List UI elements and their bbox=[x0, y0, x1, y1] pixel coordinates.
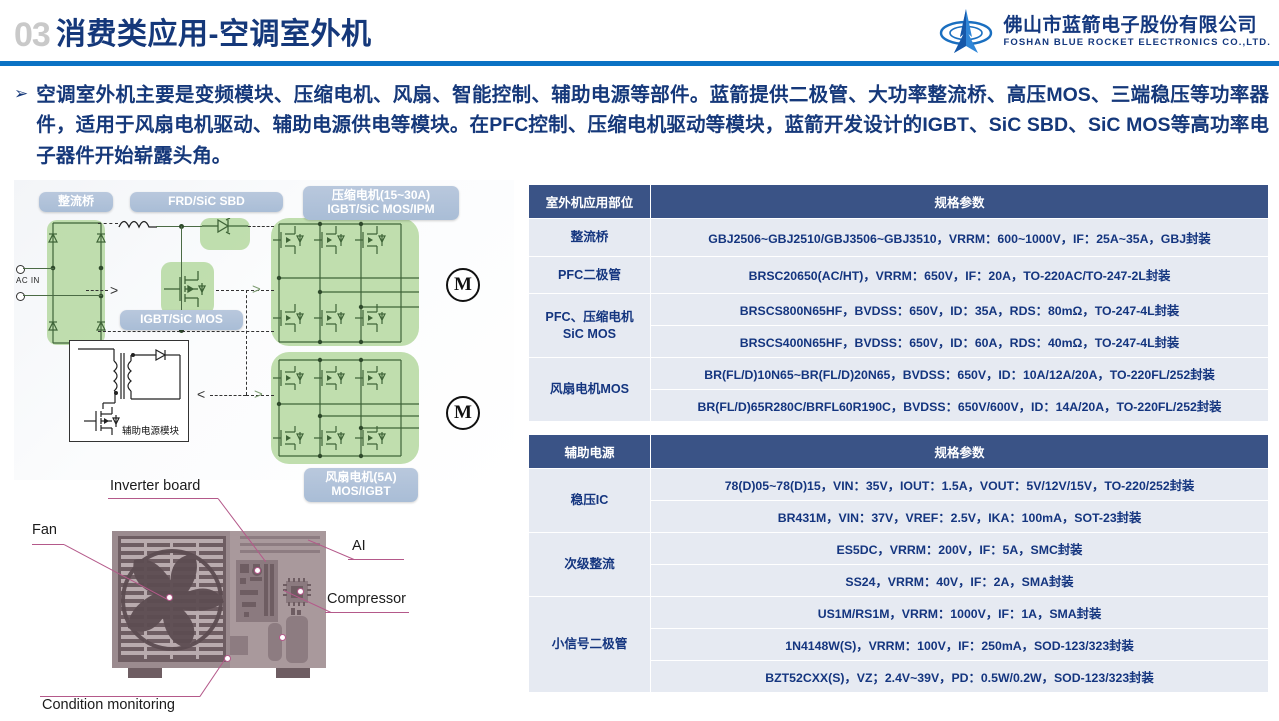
table2-category-small-signal-diode: 小信号二极管 bbox=[529, 597, 651, 693]
table2-spec-secondary-rectifier-2: SS24，VRRM：40V，IF：2A，SMA封装 bbox=[651, 565, 1269, 597]
table1-spec-pfc-sic-mos-2: BRSCS400N65HF，BVDSS：650V，ID：60A，RDS：40mΩ… bbox=[651, 326, 1269, 358]
table-row: PFC、压缩电机 SiC MOS BRSCS800N65HF，BVDSS：650… bbox=[529, 294, 1269, 326]
table1-category-pfc-sic-mos-line1: PFC、压缩电机 bbox=[545, 310, 633, 324]
table-row: PFC二极管 BRSC20650(AC/HT)，VRRM：650V，IF：20A… bbox=[529, 257, 1269, 294]
callout-label-ai: AI bbox=[352, 538, 366, 554]
aux-power-module-label: 辅助电源模块 bbox=[122, 423, 179, 437]
callout-label-condition-monitoring: Condition monitoring bbox=[42, 697, 175, 713]
callout-line-condition-monitoring bbox=[40, 696, 200, 697]
sbd-out-dash bbox=[248, 226, 274, 227]
table1-spec-pfc-diode-1: BRSC20650(AC/HT)，VRRM：650V，IF：20A，TO-220… bbox=[651, 257, 1269, 294]
header-divider bbox=[0, 61, 1279, 66]
ac-in-terminal-top bbox=[16, 265, 25, 274]
rectifier-bridge-schematic bbox=[47, 220, 107, 346]
ac-wire-top bbox=[23, 268, 54, 269]
compressor-three-phase-bridge bbox=[273, 220, 419, 346]
table2-category-secondary-rectifier: 次级整流 bbox=[529, 533, 651, 597]
label-frd-sic-sbd: FRD/SiC SBD bbox=[130, 192, 283, 212]
callout-dot-ai bbox=[297, 588, 304, 595]
label-rectifier: 整流桥 bbox=[39, 192, 113, 212]
label-compressor-motor-line1: 压缩电机(15~30A) bbox=[332, 188, 430, 202]
table1-category-rectifier: 整流桥 bbox=[529, 219, 651, 257]
table2-spec-regulator-ic-2: BR431M，VIN：37V，VREF：2.5V，IKA：100mA，SOT-2… bbox=[651, 501, 1269, 533]
table-header-row: 室外机应用部位 规格参数 bbox=[529, 185, 1269, 219]
dc-bus-bottom-dash bbox=[98, 331, 274, 332]
intro-paragraph: ➢ 空调室外机主要是变频模块、压缩电机、风扇、智能控制、辅助电源等部件。蓝箭提供… bbox=[14, 80, 1269, 171]
table1-header-specs: 规格参数 bbox=[651, 185, 1269, 219]
table-row: 小信号二极管 US1M/RS1M，VRRM：1000V，IF：1A，SMA封装 bbox=[529, 597, 1269, 629]
callout-label-fan: Fan bbox=[32, 522, 57, 538]
mid-bus-dash bbox=[216, 290, 274, 291]
callout-dot-fan bbox=[166, 594, 173, 601]
table1-header-category: 室外机应用部位 bbox=[529, 185, 651, 219]
table1-category-pfc-diode: PFC二极管 bbox=[529, 257, 651, 294]
fan-feed-arrow-icon: > bbox=[254, 387, 263, 402]
label-compressor-motor: 压缩电机(15~30A) IGBT/SiC MOS/IPM bbox=[303, 186, 459, 220]
blue-rocket-logo-icon bbox=[938, 7, 994, 57]
label-igbt-sic-mos: IGBT/SiC MOS bbox=[120, 310, 243, 330]
fan-three-phase-bridge bbox=[273, 356, 419, 460]
callout-line-compressor bbox=[325, 612, 409, 613]
table1-spec-pfc-sic-mos-1: BRSCS800N65HF，BVDSS：650V，ID：35A，RDS：80mΩ… bbox=[651, 294, 1269, 326]
branch-dash-v bbox=[246, 290, 247, 395]
page-header: 03 消费类应用-空调室外机 佛山市蓝箭电子股份有限公司 FOSHAN BLUE… bbox=[0, 0, 1279, 66]
logo-company-name-cn: 佛山市蓝箭电子股份有限公司 bbox=[1003, 15, 1271, 37]
igbt-sic-mos-symbol-icon bbox=[164, 265, 212, 313]
table2-spec-small-signal-diode-2: 1N4148W(S)，VRRM：100V，IF：250mA，SOD-123/32… bbox=[651, 629, 1269, 661]
table2-spec-small-signal-diode-1: US1M/RS1M，VRRM：1000V，IF：1A，SMA封装 bbox=[651, 597, 1269, 629]
table-header-row: 辅助电源 规格参数 bbox=[529, 435, 1269, 469]
ac-input-dash bbox=[86, 290, 108, 291]
outdoor-unit-photo: Inverter board Fan AI Compressor Conditi… bbox=[14, 478, 514, 716]
table1-spec-fan-motor-mos-1: BR(FL/D)10N65~BR(FL/D)20N65，BVDSS：650V，I… bbox=[651, 358, 1269, 390]
page-title: 消费类应用-空调室外机 bbox=[56, 18, 372, 51]
ac-input-arrow-icon: > bbox=[110, 283, 118, 297]
table2-category-regulator-ic: 稳压IC bbox=[529, 469, 651, 533]
fan-motor-symbol: M bbox=[446, 396, 480, 430]
callout-line-ai bbox=[348, 559, 404, 560]
block-diagram: AC IN > > bbox=[14, 180, 514, 480]
aux-feed-dash bbox=[210, 395, 246, 396]
ac-wire-bottom bbox=[23, 295, 102, 296]
label-compressor-motor-line2: IGBT/SiC MOS/IPM bbox=[327, 202, 434, 216]
section-number: 03 bbox=[14, 18, 50, 52]
aux-power-spec-table: 辅助电源 规格参数 稳压IC 78(D)05~78(D)15，VIN：35V，I… bbox=[528, 434, 1269, 693]
callout-line-fan bbox=[32, 544, 64, 545]
compressor-feed-arrow-icon: > bbox=[252, 282, 261, 297]
sic-sbd-diode-icon bbox=[202, 218, 248, 248]
callout-dot-compressor bbox=[279, 634, 286, 641]
ac-in-terminal-bottom bbox=[16, 292, 25, 301]
inductor-icon bbox=[118, 216, 158, 230]
compressor-motor-symbol: M bbox=[446, 268, 480, 302]
table-row: 稳压IC 78(D)05~78(D)15，VIN：35V，IOUT：1.5A，V… bbox=[529, 469, 1269, 501]
table1-category-pfc-sic-mos: PFC、压缩电机 SiC MOS bbox=[529, 294, 651, 358]
logo-company-name-en: FOSHAN BLUE ROCKET ELECTRONICS CO.,LTD. bbox=[1003, 37, 1271, 48]
table2-spec-secondary-rectifier-1: ES5DC，VRRM：200V，IF：5A，SMC封装 bbox=[651, 533, 1269, 565]
outdoor-unit-spec-table: 室外机应用部位 规格参数 整流桥 GBJ2506~GBJ2510/GBJ3506… bbox=[528, 184, 1269, 422]
callout-dot-inverter-board bbox=[254, 567, 261, 574]
callout-dot-condition-monitoring bbox=[224, 655, 231, 662]
bullet-arrow-icon: ➢ bbox=[14, 80, 28, 171]
table2-header-specs: 规格参数 bbox=[651, 435, 1269, 469]
bus-dashed-top bbox=[98, 223, 118, 224]
aux-feed-arrow-icon: < bbox=[197, 387, 205, 401]
table1-category-pfc-sic-mos-line2: SiC MOS bbox=[563, 327, 616, 341]
callout-label-inverter-board: Inverter board bbox=[110, 478, 200, 494]
table1-category-fan-motor-mos: 风扇电机MOS bbox=[529, 358, 651, 422]
table1-spec-fan-motor-mos-2: BR(FL/D)65R280C/BRFL60R190C，BVDSS：650V/6… bbox=[651, 390, 1269, 422]
table2-spec-small-signal-diode-3: BZT52CXX(S)，VZ；2.4V~39V，PD：0.5W/0.2W，SOD… bbox=[651, 661, 1269, 693]
intro-text: 空调室外机主要是变频模块、压缩电机、风扇、智能控制、辅助电源等部件。蓝箭提供二极… bbox=[36, 80, 1269, 171]
callout-label-compressor: Compressor bbox=[327, 591, 406, 607]
table2-header-category: 辅助电源 bbox=[529, 435, 651, 469]
company-logo: 佛山市蓝箭电子股份有限公司 FOSHAN BLUE ROCKET ELECTRO… bbox=[938, 6, 1271, 58]
table2-spec-regulator-ic-1: 78(D)05~78(D)15，VIN：35V，IOUT：1.5A，VOUT：5… bbox=[651, 469, 1269, 501]
outdoor-unit-illustration bbox=[14, 478, 514, 716]
table-row: 整流桥 GBJ2506~GBJ2510/GBJ3506~GBJ3510，VRRM… bbox=[529, 219, 1269, 257]
ac-in-label: AC IN bbox=[16, 276, 40, 285]
table1-spec-rectifier-1: GBJ2506~GBJ2510/GBJ3506~GBJ3510，VRRM：600… bbox=[651, 219, 1269, 257]
callout-line-inverter-board bbox=[108, 498, 218, 499]
table-row: 风扇电机MOS BR(FL/D)10N65~BR(FL/D)20N65，BVDS… bbox=[529, 358, 1269, 390]
table-row: 次级整流 ES5DC，VRRM：200V，IF：5A，SMC封装 bbox=[529, 533, 1269, 565]
